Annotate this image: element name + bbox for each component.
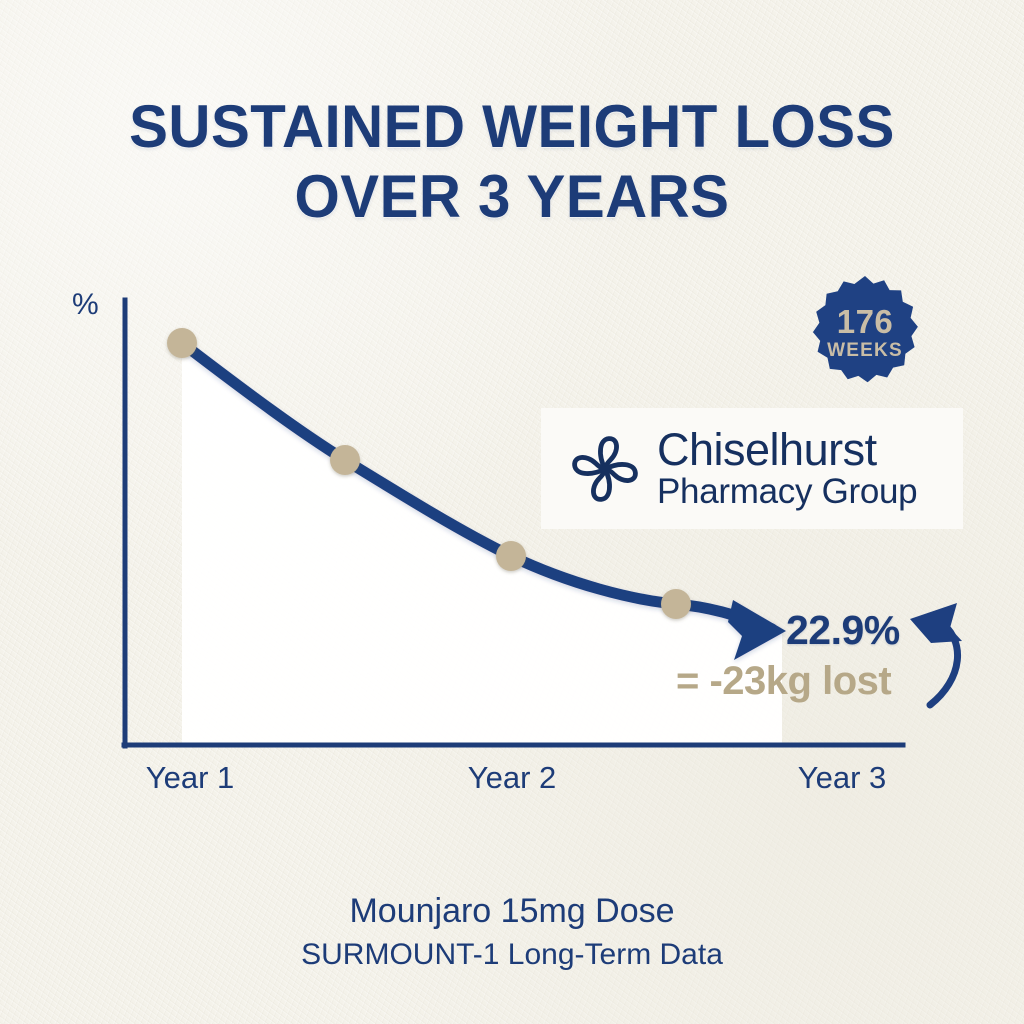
starburst-badge-icon	[806, 274, 924, 392]
duration-badge: 176 WEEKS	[806, 274, 924, 392]
clover-logo-icon	[559, 423, 651, 515]
y-axis-label: %	[72, 288, 99, 322]
footer-caption: Mounjaro 15mg Dose SURMOUNT-1 Long-Term …	[0, 888, 1024, 976]
result-percent-label: 22.9%	[786, 607, 900, 654]
logo-wordmark: Chiselhurst Pharmacy Group	[657, 427, 917, 511]
x-axis-tick-label-year-1: Year 1	[90, 760, 290, 796]
infographic-poster: SUSTAINED WEIGHT LOSS OVER 3 YEARS	[0, 0, 1024, 1024]
data-point-marker	[167, 328, 197, 358]
data-point-marker	[661, 589, 691, 619]
x-axis-tick-label-year-3: Year 3	[742, 760, 942, 796]
curved-arrow-left-head-icon	[910, 603, 962, 643]
data-point-marker	[330, 445, 360, 475]
footer-line-2: SURMOUNT-1 Long-Term Data	[0, 934, 1024, 976]
x-axis-tick-label-year-2: Year 2	[412, 760, 612, 796]
brand-logo: Chiselhurst Pharmacy Group	[541, 408, 963, 529]
logo-subtitle: Pharmacy Group	[657, 473, 917, 511]
result-weight-label: = -23kg lost	[676, 659, 891, 704]
logo-name: Chiselhurst	[657, 427, 917, 473]
data-point-marker	[496, 541, 526, 571]
footer-line-1: Mounjaro 15mg Dose	[0, 888, 1024, 934]
